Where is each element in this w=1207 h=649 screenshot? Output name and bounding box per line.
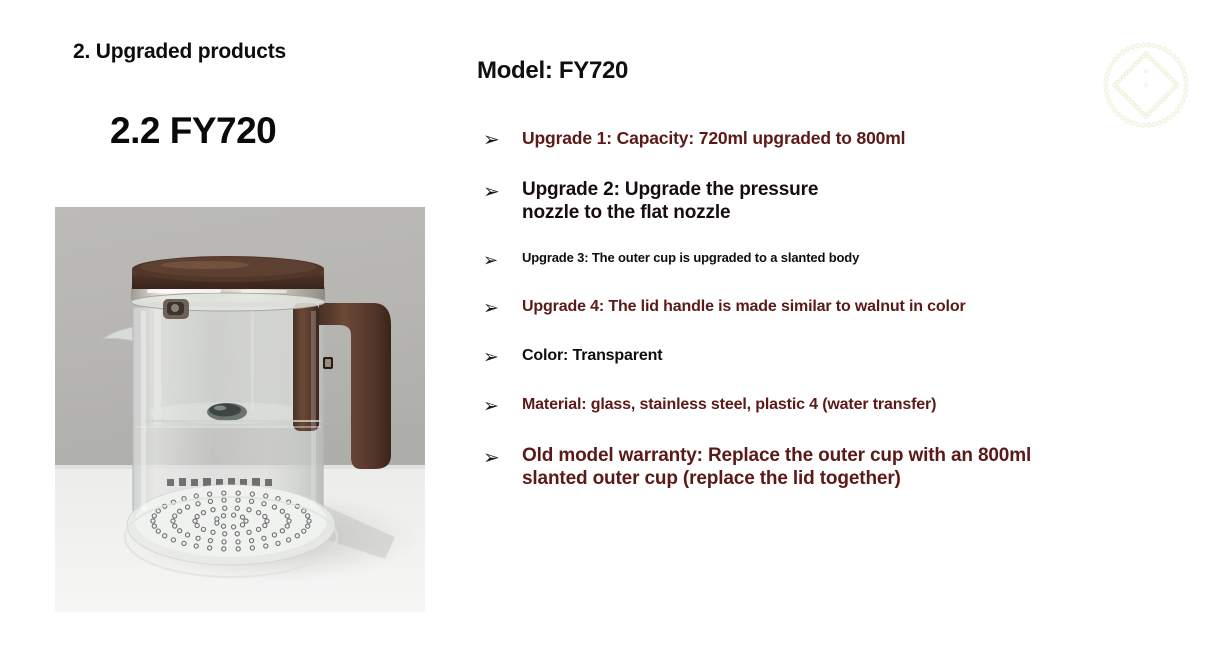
bullet-color-text: Color: Transparent: [522, 346, 1178, 366]
bullet-line: slanted outer cup (replace the lid toget…: [522, 467, 1178, 490]
arrow-bullet-icon: ➢: [478, 444, 522, 470]
bullet-old-model-warranty-text: Old model warranty: Replace the outer cu…: [522, 444, 1178, 490]
bullet-line: Old model warranty: Replace the outer cu…: [522, 444, 1178, 467]
bullet-old-model-warranty: ➢Old model warranty: Replace the outer c…: [478, 444, 1178, 490]
bullet-line: Upgrade 3: The outer cup is upgraded to …: [522, 250, 1178, 266]
circle-diamond-dotted-icon: [1097, 36, 1195, 134]
product-photo: [55, 207, 425, 612]
bullet-line: Upgrade 4: The lid handle is made simila…: [522, 297, 1178, 317]
upgrade-bullet-list: ➢Upgrade 1: Capacity: 720ml upgraded to …: [478, 128, 1178, 516]
arrow-bullet-icon: ➢: [478, 250, 522, 271]
section-title: 2. Upgraded products: [73, 40, 286, 64]
bullet-upgrade-4: ➢Upgrade 4: The lid handle is made simil…: [478, 297, 1178, 320]
bullet-upgrade-2-text: Upgrade 2: Upgrade the pressurenozzle to…: [522, 178, 1178, 224]
bullet-line: Upgrade 1: Capacity: 720ml upgraded to 8…: [522, 128, 1178, 149]
bullet-material: ➢Material: glass, stainless steel, plast…: [478, 395, 1178, 418]
watermark: [1097, 36, 1195, 134]
bullet-upgrade-3-text: Upgrade 3: The outer cup is upgraded to …: [522, 250, 1178, 266]
bullet-upgrade-2: ➢Upgrade 2: Upgrade the pressurenozzle t…: [478, 178, 1178, 224]
bullet-upgrade-1-text: Upgrade 1: Capacity: 720ml upgraded to 8…: [522, 128, 1178, 149]
bullet-upgrade-3: ➢Upgrade 3: The outer cup is upgraded to…: [478, 250, 1178, 271]
bullet-line: Color: Transparent: [522, 346, 1178, 366]
bullet-upgrade-4-text: Upgrade 4: The lid handle is made simila…: [522, 297, 1178, 317]
arrow-bullet-icon: ➢: [478, 178, 522, 204]
model-heading: Model: FY720: [477, 57, 628, 85]
bullet-line: Upgrade 2: Upgrade the pressure: [522, 178, 1178, 201]
bullet-material-text: Material: glass, stainless steel, plasti…: [522, 395, 1178, 415]
arrow-bullet-icon: ➢: [478, 297, 522, 320]
arrow-bullet-icon: ➢: [478, 346, 522, 369]
bullet-line: Material: glass, stainless steel, plasti…: [522, 395, 1178, 415]
arrow-bullet-icon: ➢: [478, 395, 522, 418]
bullet-color: ➢Color: Transparent: [478, 346, 1178, 369]
page-title: 2.2 FY720: [110, 110, 276, 152]
teapot-photo-illustration: [55, 207, 425, 612]
slide-canvas: 2. Upgraded products 2.2 FY720: [0, 0, 1207, 649]
arrow-bullet-icon: ➢: [478, 128, 522, 152]
bullet-upgrade-1: ➢Upgrade 1: Capacity: 720ml upgraded to …: [478, 128, 1178, 152]
bullet-line: nozzle to the flat nozzle: [522, 201, 1178, 224]
